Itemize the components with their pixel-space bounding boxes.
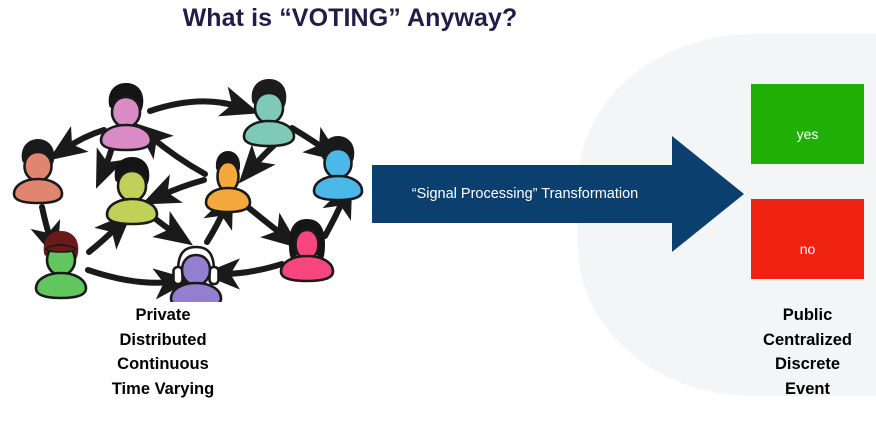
head [255, 93, 283, 123]
page-title: What is “VOTING” Anyway? [0, 4, 700, 33]
private-side-attributes: Private Distributed Continuous Time Vary… [83, 303, 243, 401]
person-purple [171, 247, 221, 302]
edge-pink-to-salmon [65, 130, 104, 149]
attribute-line: Centralized [742, 328, 873, 353]
attribute-line: Distributed [83, 328, 243, 353]
edge-pink-to-teal [150, 101, 240, 111]
head [118, 171, 146, 201]
person-salmon [14, 139, 62, 203]
public-side-attributes: Public Centralized Discrete Event [742, 303, 873, 401]
shoulders [314, 176, 362, 200]
shoulders [14, 179, 62, 203]
attribute-line: Public [742, 303, 873, 328]
edge-orange-to-olive [160, 180, 204, 196]
shoulders [281, 256, 333, 281]
attribute-line: Time Varying [83, 377, 243, 402]
person-hotpink [281, 219, 333, 281]
person-green [36, 231, 86, 298]
head [325, 149, 352, 178]
attribute-line: Discrete [742, 352, 873, 377]
edge-teal-to-blue [292, 128, 326, 150]
head [112, 97, 140, 127]
person-pink [101, 83, 151, 150]
person-orange [206, 151, 250, 212]
transformation-arrow: “Signal Processing” Transformation [372, 136, 744, 252]
shoulders [36, 273, 86, 298]
shoulders [101, 125, 151, 150]
edge-orange-to-hotpink [244, 204, 284, 236]
answer-box-yes[interactable]: yes [751, 84, 864, 164]
social-network-illustration [4, 74, 376, 302]
attribute-line: Continuous [83, 352, 243, 377]
edge-hotpink-to-blue [325, 198, 344, 236]
arrow-shape [372, 136, 744, 252]
edge-hotpink-to-purple [222, 264, 282, 274]
head [25, 152, 52, 181]
edge-orange-to-pink [150, 136, 205, 174]
shoulders [171, 283, 221, 302]
person-teal [244, 79, 294, 146]
edge-green-to-olive [89, 226, 118, 252]
answer-box-no[interactable]: no [751, 199, 864, 279]
shoulders [244, 121, 294, 146]
person-olive [107, 157, 157, 224]
edge-green-to-purple [88, 270, 172, 283]
shoulders [206, 188, 250, 212]
attribute-line: Event [742, 377, 873, 402]
attribute-line: Private [83, 303, 243, 328]
head [182, 255, 210, 285]
headband [46, 245, 76, 252]
slide-canvas: What is “VOTING” Anyway? [0, 0, 876, 425]
shoulders [107, 199, 157, 224]
